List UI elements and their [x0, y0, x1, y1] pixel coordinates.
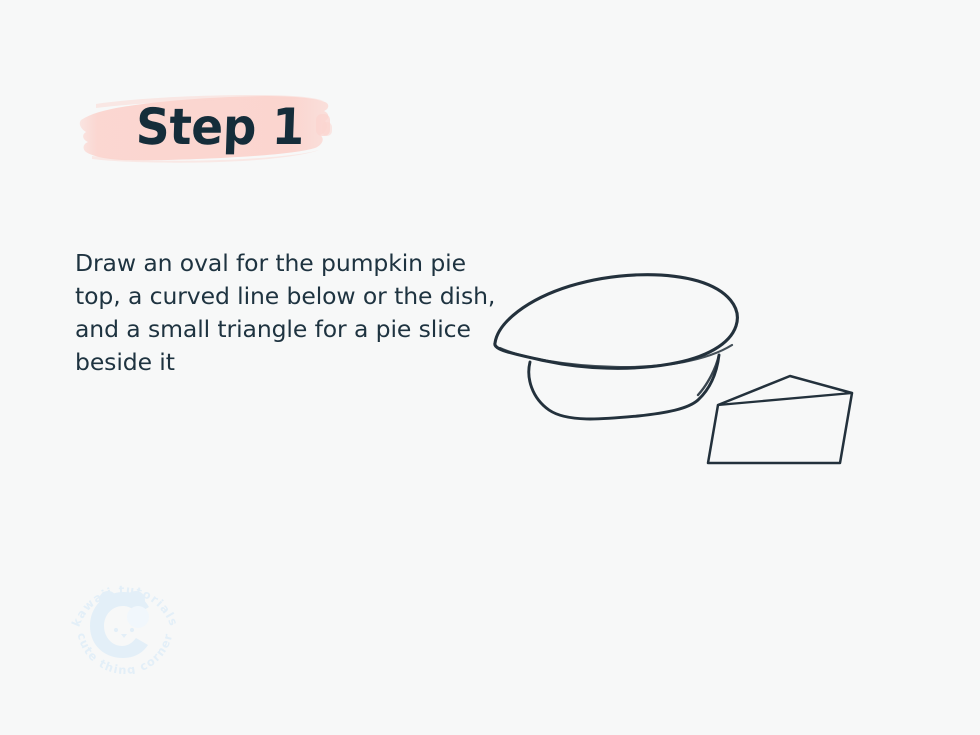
pie-top-oval-path [495, 275, 737, 369]
slide-canvas: Step 1 Draw an oval for the pumpkin pie … [0, 0, 980, 735]
page-title: Step 1 [135, 96, 305, 158]
pie-slice-triangle-path [708, 376, 852, 463]
pumpkin-pie-sketch [470, 250, 890, 500]
step-title-block: Step 1 [78, 92, 338, 174]
instruction-text: Draw an oval for the pumpkin pie top, a … [75, 247, 515, 379]
pie-slice-top-edge-path [718, 393, 852, 405]
watermark-badge: kawaii tutorials cute thing corner [60, 574, 190, 674]
